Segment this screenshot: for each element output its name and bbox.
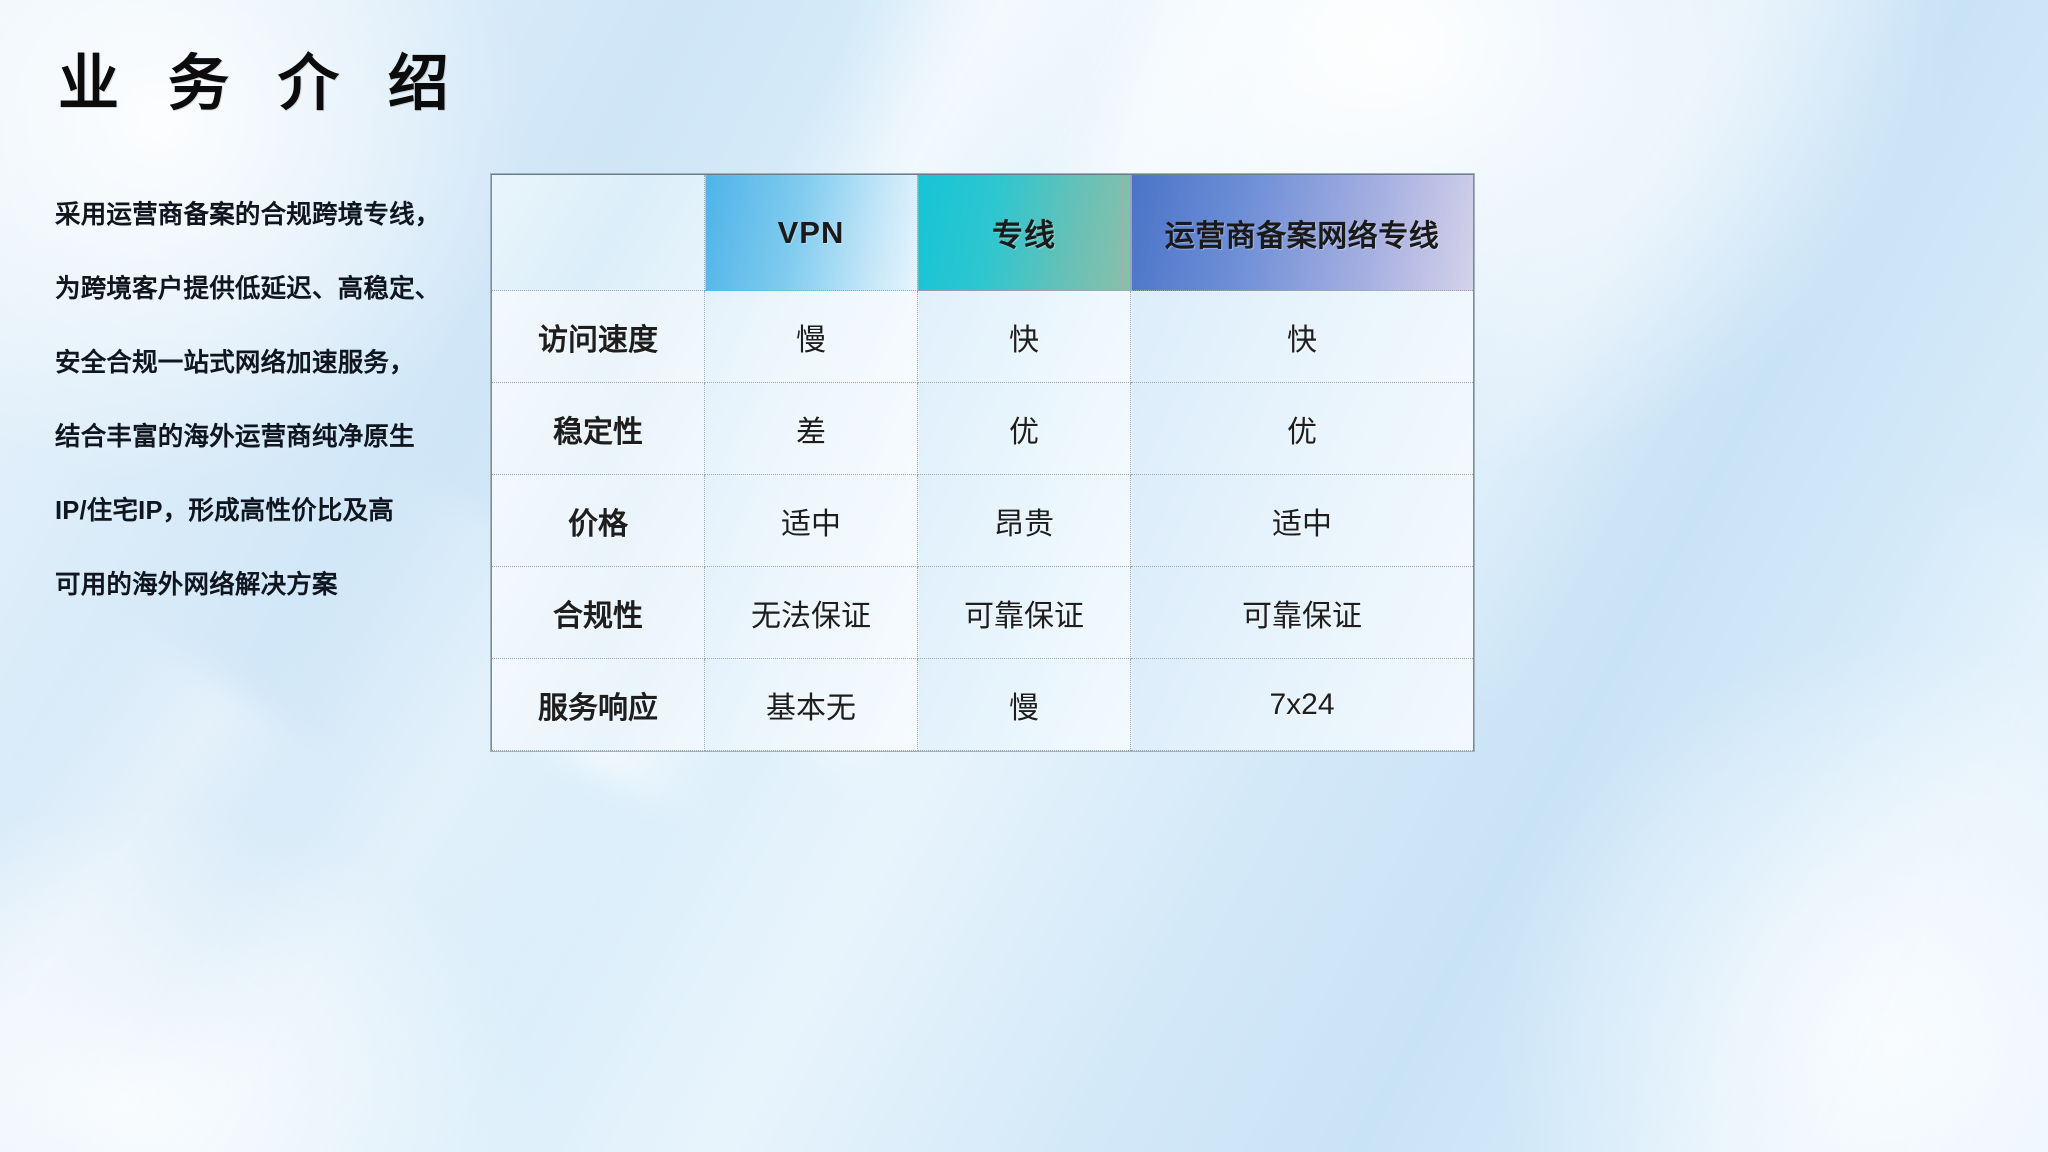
table-row: 合规性 无法保证 可靠保证 可靠保证 xyxy=(492,567,1474,659)
table-header-carrier-registered-line: 运营商备案网络专线 xyxy=(1131,175,1474,291)
intro-line-2: 为跨境客户提供低延迟、高稳定、 xyxy=(55,252,475,326)
cell-line-service-response: 慢 xyxy=(918,659,1131,751)
cell-vpn-stability: 差 xyxy=(705,383,918,475)
background-glow-bottom-right xyxy=(1488,632,2048,1152)
background-light-streak xyxy=(0,616,341,1152)
row-label-service-response: 服务响应 xyxy=(492,659,705,751)
comparison-table: VPN 专线 运营商备案网络专线 访问速度 慢 快 快 稳定性 差 优 优 价格… xyxy=(491,174,1474,751)
cell-line-price: 昂贵 xyxy=(918,475,1131,567)
table-row: 价格 适中 昂贵 适中 xyxy=(492,475,1474,567)
cell-carrier-service-response: 7x24 xyxy=(1131,659,1474,751)
slide-canvas: 业 务 介 绍 采用运营商备案的合规跨境专线， 为跨境客户提供低延迟、高稳定、 … xyxy=(0,0,2048,1152)
cell-line-stability: 优 xyxy=(918,383,1131,475)
cell-carrier-price: 适中 xyxy=(1131,475,1474,567)
table-row: 服务响应 基本无 慢 7x24 xyxy=(492,659,1474,751)
cell-vpn-compliance: 无法保证 xyxy=(705,567,918,659)
cell-line-access-speed: 快 xyxy=(918,291,1131,383)
intro-line-1: 采用运营商备案的合规跨境专线， xyxy=(55,178,475,252)
row-label-access-speed: 访问速度 xyxy=(492,291,705,383)
row-label-price: 价格 xyxy=(492,475,705,567)
row-label-stability: 稳定性 xyxy=(492,383,705,475)
table-row: 访问速度 慢 快 快 xyxy=(492,291,1474,383)
intro-paragraph: 采用运营商备案的合规跨境专线， 为跨境客户提供低延迟、高稳定、 安全合规一站式网… xyxy=(55,178,475,622)
cell-carrier-stability: 优 xyxy=(1131,383,1474,475)
cell-vpn-service-response: 基本无 xyxy=(705,659,918,751)
table-body: 访问速度 慢 快 快 稳定性 差 优 优 价格 适中 昂贵 适中 合规性 无法保… xyxy=(492,291,1474,751)
intro-line-4: 结合丰富的海外运营商纯净原生 xyxy=(55,400,475,474)
cell-line-compliance: 可靠保证 xyxy=(918,567,1131,659)
cell-carrier-compliance: 可靠保证 xyxy=(1131,567,1474,659)
row-label-compliance: 合规性 xyxy=(492,567,705,659)
table-header-dedicated-line: 专线 xyxy=(918,175,1131,291)
table-header: VPN 专线 运营商备案网络专线 xyxy=(492,175,1474,291)
intro-line-3: 安全合规一站式网络加速服务， xyxy=(55,326,475,400)
page-title: 业 务 介 绍 xyxy=(58,48,465,118)
cell-vpn-access-speed: 慢 xyxy=(705,291,918,383)
intro-line-5: IP/住宅IP，形成高性价比及高 xyxy=(55,474,475,548)
background-light-streak xyxy=(1541,487,2048,1152)
cell-vpn-price: 适中 xyxy=(705,475,918,567)
table-header-row: VPN 专线 运营商备案网络专线 xyxy=(492,175,1474,291)
table-row: 稳定性 差 优 优 xyxy=(492,383,1474,475)
table-header-blank xyxy=(492,175,705,291)
intro-line-6: 可用的海外网络解决方案 xyxy=(55,548,475,622)
table-header-vpn: VPN xyxy=(705,175,918,291)
cell-carrier-access-speed: 快 xyxy=(1131,291,1474,383)
